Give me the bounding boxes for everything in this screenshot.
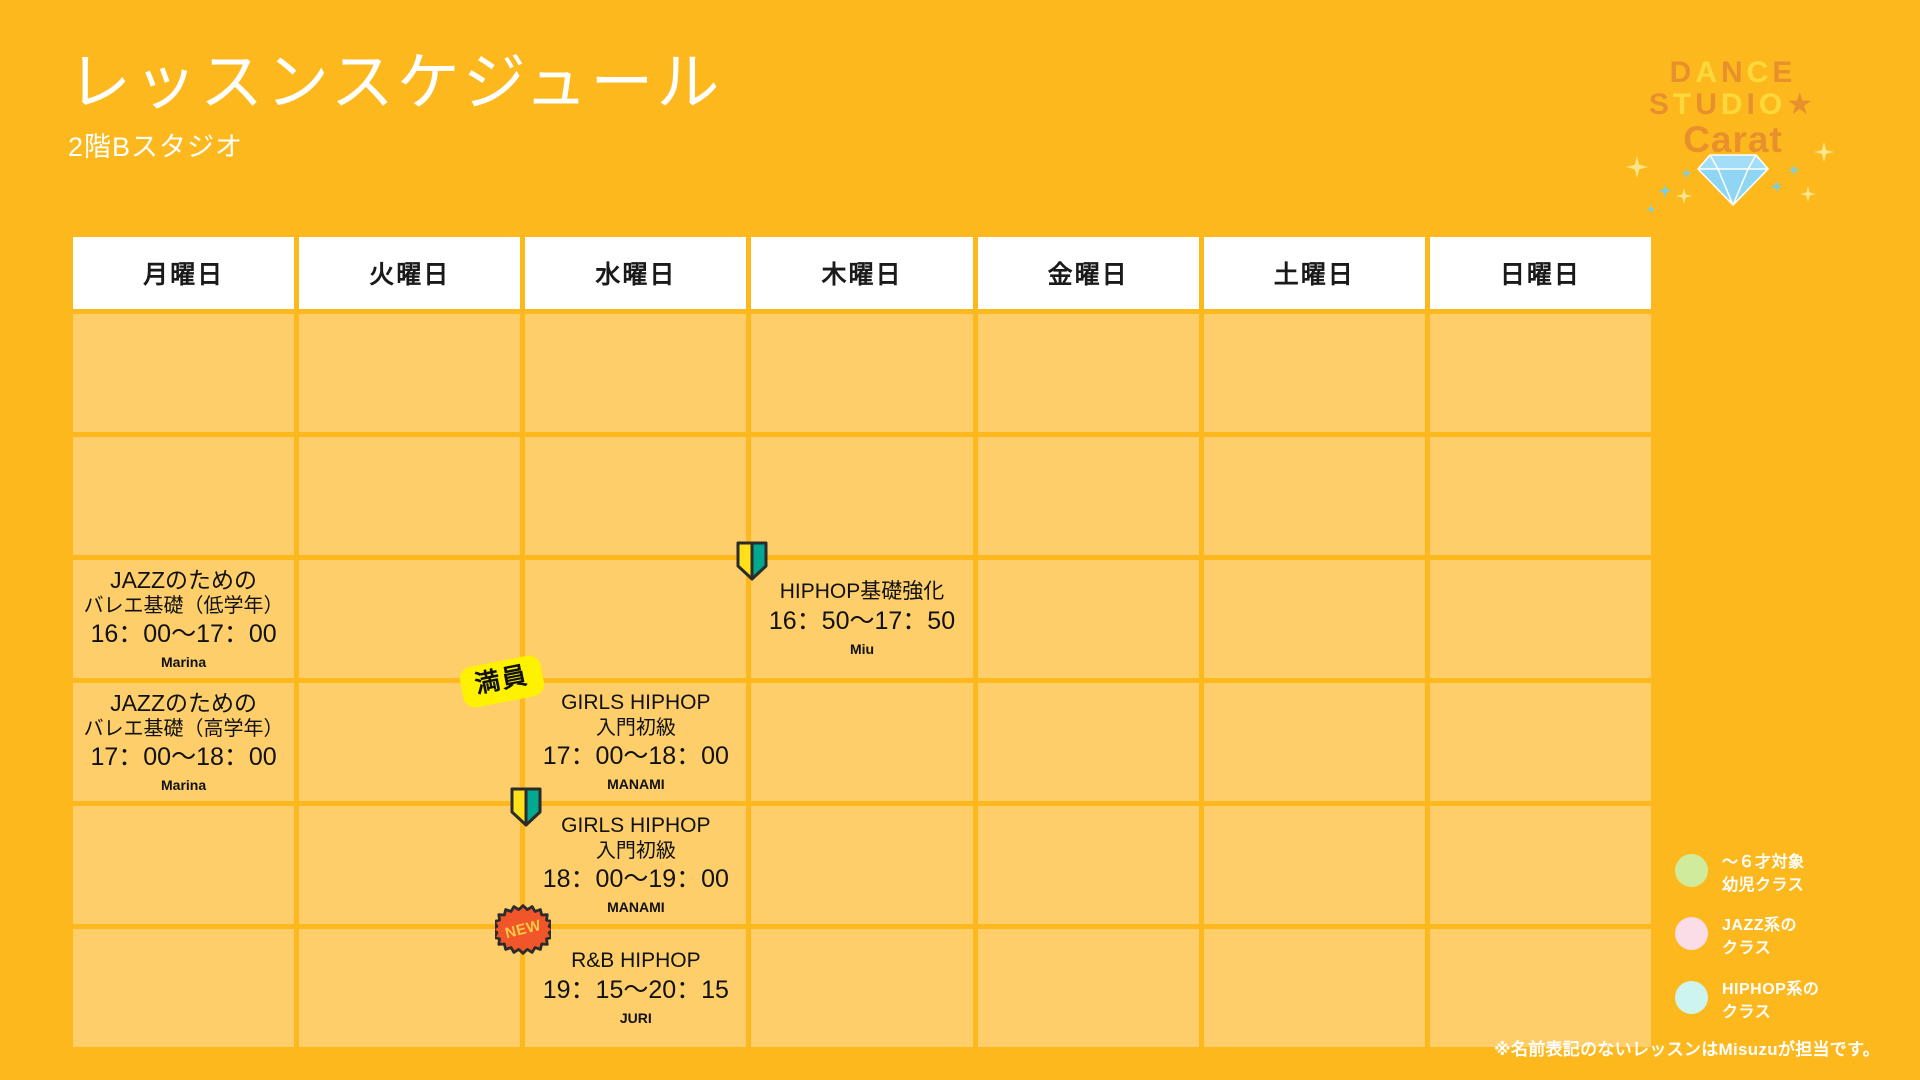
lesson-instructor: JURI <box>527 1009 744 1027</box>
legend-color-swatch-kids <box>1675 854 1708 887</box>
diamond-icon <box>1696 149 1770 207</box>
sparkle-icon <box>1814 142 1834 162</box>
lesson-cell-wed-girls-1[interactable]: 満員 GIRLS HIPHOP 入門初級 17：00〜18：00 MANAMI <box>525 683 746 801</box>
sparkle-icon <box>1681 168 1692 179</box>
legend-color-swatch-hiphop <box>1675 981 1708 1014</box>
slot-sun-1[interactable] <box>1430 314 1651 432</box>
day-header-sat: 土曜日 <box>1204 237 1425 309</box>
slot-sat-5[interactable] <box>1204 806 1425 924</box>
day-header-wed: 水曜日 <box>525 237 746 309</box>
page-header: レッスンスケジュール 2階Bスタジオ <box>68 48 722 164</box>
lesson-time: 16：50〜17：50 <box>753 605 970 638</box>
sparkle-icon <box>1626 156 1648 178</box>
lesson-title: JAZZのための <box>75 690 292 717</box>
legend: 〜６才対象 幼児クラス JAZZ系の クラス HIPHOP系の クラス <box>1675 852 1880 1042</box>
slot-sun-4[interactable] <box>1430 683 1651 801</box>
slot-sat-3[interactable] <box>1204 560 1425 678</box>
status-badge-new: NEW <box>495 901 551 957</box>
lesson-instructor: MANAMI <box>527 775 744 793</box>
slot-tue-2[interactable] <box>299 437 520 555</box>
sparkle-icon <box>1788 164 1800 176</box>
slot-mon-2[interactable] <box>73 437 294 555</box>
studio-logo: DANCE STUDIO★ Carat <box>1618 58 1848 203</box>
lesson-content: R&B HIPHOP 19：15〜20：15 JURI <box>525 929 746 1047</box>
slot-fri-2[interactable] <box>978 437 1199 555</box>
slot-tue-5[interactable] <box>299 806 520 924</box>
slot-tue-1[interactable] <box>299 314 520 432</box>
lesson-content: JAZZのための バレエ基礎（高学年） 17：00〜18：00 Marina <box>73 683 294 801</box>
slot-thu-6[interactable] <box>751 929 972 1047</box>
beginner-leaf-icon <box>509 786 543 828</box>
page-subtitle: 2階Bスタジオ <box>68 125 722 164</box>
table-row: GIRLS HIPHOP 入門初級 18：00〜19：00 MANAMI <box>73 806 1651 924</box>
legend-color-swatch-jazz <box>1675 917 1708 950</box>
legend-label-line1: HIPHOP系の <box>1722 979 1819 1002</box>
slot-sun-3[interactable] <box>1430 560 1651 678</box>
sparkle-icon <box>1676 188 1692 204</box>
day-header-sun: 日曜日 <box>1430 237 1651 309</box>
slot-wed-3[interactable] <box>525 560 746 678</box>
beginner-leaf-icon <box>735 540 769 582</box>
lesson-cell-wed-rb[interactable]: NEW R&B HIPHOP 19：15〜20：15 JURI <box>525 929 746 1047</box>
sparkle-icon <box>1658 184 1672 198</box>
legend-label-kids: 〜６才対象 幼児クラス <box>1722 852 1805 897</box>
lesson-cell-mon-jazz-high[interactable]: JAZZのための バレエ基礎（高学年） 17：00〜18：00 Marina <box>73 683 294 801</box>
lesson-content: GIRLS HIPHOP 入門初級 18：00〜19：00 MANAMI <box>525 806 746 924</box>
slot-sat-4[interactable] <box>1204 683 1425 801</box>
day-header-thu: 木曜日 <box>751 237 972 309</box>
footer-note: ※名前表記のないレッスンはMisuzuが担当です。 <box>1494 1035 1880 1060</box>
table-row <box>73 437 1651 555</box>
lesson-subtitle: バレエ基礎（低学年） <box>75 594 292 618</box>
slot-thu-4[interactable] <box>751 683 972 801</box>
legend-label-jazz: JAZZ系の クラス <box>1722 915 1797 960</box>
lesson-time: 18：00〜19：00 <box>527 863 744 896</box>
lesson-title: GIRLS HIPHOP <box>527 814 744 839</box>
schedule-table: 月曜日 火曜日 水曜日 木曜日 金曜日 土曜日 日曜日 <box>68 232 1656 1052</box>
lesson-subtitle: 入門初級 <box>527 839 744 863</box>
day-header-fri: 金曜日 <box>978 237 1199 309</box>
lesson-title: JAZZのための <box>75 567 292 594</box>
sparkle-icon <box>1770 180 1783 193</box>
slot-fri-6[interactable] <box>978 929 1199 1047</box>
lesson-content: JAZZのための バレエ基礎（低学年） 16：00〜17：00 Marina <box>73 560 294 678</box>
slot-wed-2[interactable] <box>525 437 746 555</box>
sparkle-icon <box>1800 186 1816 202</box>
lesson-instructor: Marina <box>75 776 292 794</box>
day-header-mon: 月曜日 <box>73 237 294 309</box>
lesson-cell-mon-jazz-low[interactable]: JAZZのための バレエ基礎（低学年） 16：00〜17：00 Marina <box>73 560 294 678</box>
legend-label-line1: 〜６才対象 <box>1722 852 1805 875</box>
slot-fri-3[interactable] <box>978 560 1199 678</box>
table-row: NEW R&B HIPHOP 19：15〜20：15 JURI <box>73 929 1651 1047</box>
slot-fri-5[interactable] <box>978 806 1199 924</box>
legend-item-hiphop: HIPHOP系の クラス <box>1675 979 1880 1024</box>
table-row: JAZZのための バレエ基礎（低学年） 16：00〜17：00 Marina H… <box>73 560 1651 678</box>
legend-label-line2: クラス <box>1722 938 1797 961</box>
day-header-tue: 火曜日 <box>299 237 520 309</box>
lesson-title: HIPHOP基礎強化 <box>753 580 970 605</box>
slot-tue-3[interactable] <box>299 560 520 678</box>
logo-line-studio: STUDIO★ <box>1618 90 1848 120</box>
lesson-title: GIRLS HIPHOP <box>527 691 744 716</box>
lesson-title: R&B HIPHOP <box>527 949 744 974</box>
legend-item-kids: 〜６才対象 幼児クラス <box>1675 852 1880 897</box>
sparkle-icon <box>1646 204 1656 214</box>
slot-thu-2[interactable] <box>751 437 972 555</box>
slot-fri-1[interactable] <box>978 314 1199 432</box>
slot-wed-1[interactable] <box>525 314 746 432</box>
slot-mon-1[interactable] <box>73 314 294 432</box>
slot-sat-2[interactable] <box>1204 437 1425 555</box>
lesson-instructor: MANAMI <box>527 898 744 916</box>
slot-sun-2[interactable] <box>1430 437 1651 555</box>
legend-label-line2: 幼児クラス <box>1722 875 1805 898</box>
table-header-row: 月曜日 火曜日 水曜日 木曜日 金曜日 土曜日 日曜日 <box>73 237 1651 309</box>
lesson-time: 17：00〜18：00 <box>75 741 292 774</box>
lesson-subtitle: 入門初級 <box>527 716 744 740</box>
slot-thu-5[interactable] <box>751 806 972 924</box>
page-title: レッスンスケジュール <box>68 48 722 119</box>
table-row <box>73 314 1651 432</box>
legend-item-jazz: JAZZ系の クラス <box>1675 915 1880 960</box>
logo-star-icon: ★ <box>1786 88 1817 121</box>
lesson-time: 16：00〜17：00 <box>75 618 292 651</box>
lesson-content: HIPHOP基礎強化 16：50〜17：50 Miu <box>751 560 972 678</box>
slot-sun-5[interactable] <box>1430 806 1651 924</box>
legend-label-line2: クラス <box>1722 1002 1819 1025</box>
lesson-instructor: Miu <box>753 640 970 658</box>
table-row: JAZZのための バレエ基礎（高学年） 17：00〜18：00 Marina 満… <box>73 683 1651 801</box>
logo-line-dance: DANCE <box>1618 58 1848 88</box>
slot-fri-4[interactable] <box>978 683 1199 801</box>
lesson-time: 19：15〜20：15 <box>527 974 744 1007</box>
lesson-content: GIRLS HIPHOP 入門初級 17：00〜18：00 MANAMI <box>525 683 746 801</box>
lesson-cell-wed-girls-2[interactable]: GIRLS HIPHOP 入門初級 18：00〜19：00 MANAMI <box>525 806 746 924</box>
legend-label-hiphop: HIPHOP系の クラス <box>1722 979 1819 1024</box>
lesson-time: 17：00〜18：00 <box>527 740 744 773</box>
lesson-cell-thu-hiphop[interactable]: HIPHOP基礎強化 16：50〜17：50 Miu <box>751 560 972 678</box>
slot-sat-1[interactable] <box>1204 314 1425 432</box>
slot-sat-6[interactable] <box>1204 929 1425 1047</box>
lesson-subtitle: バレエ基礎（高学年） <box>75 717 292 741</box>
slot-mon-6[interactable] <box>73 929 294 1047</box>
slot-tue-6[interactable] <box>299 929 520 1047</box>
lesson-instructor: Marina <box>75 653 292 671</box>
legend-label-line1: JAZZ系の <box>1722 915 1797 938</box>
slot-mon-5[interactable] <box>73 806 294 924</box>
slot-thu-1[interactable] <box>751 314 972 432</box>
slot-sun-6[interactable] <box>1430 929 1651 1047</box>
